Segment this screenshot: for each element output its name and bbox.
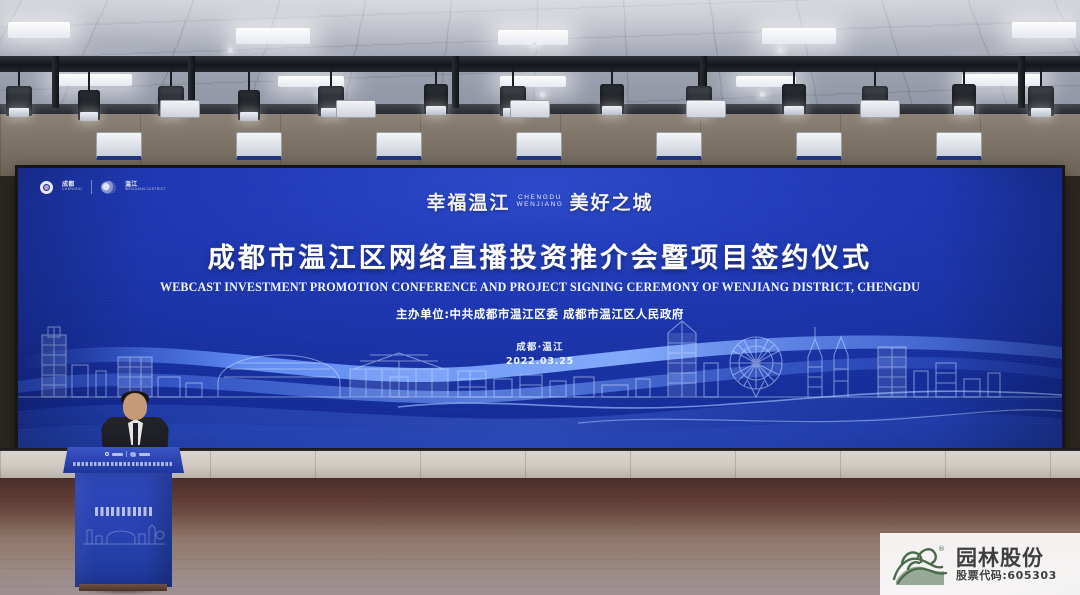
podium-top — [63, 447, 184, 473]
podium-calligraphy — [95, 507, 153, 516]
truss-fixture-box — [336, 100, 376, 118]
stage-light-fixture — [6, 68, 32, 120]
stage-light-fixture — [1028, 68, 1054, 120]
video-frame: 成都 CHENGDU 温江 WENJIANG DISTRICT 幸福温江 CHE… — [0, 0, 1080, 595]
watermark-stock-code: 股票代码:605303 — [956, 570, 1057, 581]
truss-fixture-box — [96, 132, 142, 160]
truss-fixture-box — [656, 132, 702, 160]
truss-fixture-box — [936, 132, 982, 160]
place-line: 成都·温江 — [18, 339, 1062, 353]
registered-mark: ® — [938, 545, 945, 553]
led-backdrop-screen: 成都 CHENGDU 温江 WENJIANG DISTRICT 幸福温江 CHE… — [18, 168, 1062, 451]
truss-fixture-box — [860, 100, 900, 118]
stage-light-fixture — [782, 66, 806, 122]
ceiling-panel-light — [236, 28, 310, 44]
garden-landscape-logo-icon: ® — [888, 539, 952, 589]
podium-wenjiang-logo-icon — [130, 452, 136, 457]
podium-skyline-graphic — [83, 524, 165, 546]
watermark-brand-name: 园林股份 — [956, 548, 1057, 569]
broadcaster-watermark: ® 园林股份 股票代码:605303 — [880, 533, 1080, 595]
calligraphy-left-phrase: 幸福温江 — [426, 188, 510, 215]
stage-light-fixture — [952, 66, 976, 122]
ceiling-spot-dot — [778, 48, 783, 53]
podium-logos — [105, 451, 150, 457]
ceiling-spot-dot — [760, 92, 765, 97]
truss-fixture-box — [236, 132, 282, 160]
ceiling-panel-light — [1012, 22, 1076, 38]
podium-chengdu-label — [112, 453, 123, 456]
podium-base — [79, 584, 167, 591]
podium-wenjiang-label — [139, 453, 150, 456]
truss-fixture-box — [516, 132, 562, 160]
date-line: 2022.03.25 — [18, 356, 1062, 367]
truss-post — [1018, 56, 1025, 108]
truss-post — [452, 56, 459, 108]
truss-fixture-box — [160, 100, 200, 118]
truss-fixture-box — [796, 132, 842, 160]
main-title-cn: 成都市温江区网络直播投资推介会暨项目签约仪式 — [18, 236, 1062, 275]
ceiling-spot-dot — [228, 48, 233, 53]
podium-chengdu-logo-icon — [105, 452, 109, 456]
calligraphy-right-phrase: 美好之城 — [570, 188, 654, 215]
ceiling-spot-dot — [540, 92, 545, 97]
truss-fixture-box — [686, 100, 726, 118]
ceiling-panel-light — [762, 28, 836, 44]
podium-logo-divider — [126, 451, 127, 457]
podium-banner-text — [73, 462, 174, 466]
truss-fixture-box — [510, 100, 550, 118]
calligraphy-headline: 幸福温江 CHENGDU WENJIANG 美好之城 — [18, 188, 1062, 215]
ceiling-panel-light — [8, 22, 70, 38]
calligraphy-latin-wenjiang: WENJIANG — [516, 202, 563, 209]
organizer-line: 主办单位:中共成都市温江区委 成都市温江区人民政府 — [18, 306, 1062, 322]
watermark-text: 园林股份 股票代码:605303 — [956, 548, 1057, 581]
title-block: 成都市温江区网络直播投资推介会暨项目签约仪式 WEBCAST INVESTMEN… — [18, 236, 1062, 367]
stage-light-fixture — [238, 72, 260, 124]
truss-post — [52, 56, 59, 108]
stage-light-fixture — [78, 72, 100, 124]
stage-light-fixture — [600, 66, 624, 122]
podium-front-panel — [75, 472, 172, 587]
stage-light-fixture — [424, 66, 448, 122]
main-title-en: WEBCAST INVESTMENT PROMOTION CONFERENCE … — [23, 280, 1057, 295]
truss-fixture-box — [376, 132, 422, 160]
ceiling-spot-dot — [532, 42, 537, 47]
speaker-podium — [63, 447, 184, 587]
